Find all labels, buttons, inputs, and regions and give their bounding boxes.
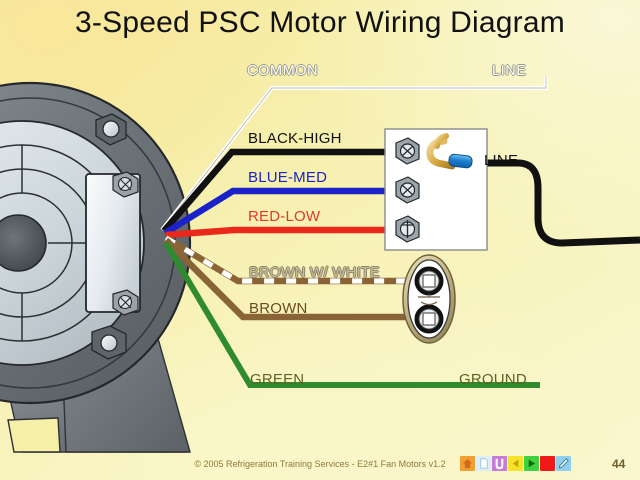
label-black-high: BLACK-HIGH [248,131,342,146]
document-icon[interactable] [476,456,491,471]
previous-icon[interactable] [508,456,523,471]
pen-icon[interactable] [556,456,571,471]
home-icon[interactable] [460,456,475,471]
capacitor-terminal-bottom[interactable] [415,305,443,333]
run-capacitor[interactable] [403,255,455,343]
wire-line-power [470,163,640,243]
page-title: 3-Speed PSC Motor Wiring Diagram [0,6,640,40]
speed-switch-box[interactable] [385,129,487,250]
motor-assembly [0,83,190,452]
motor-foot-notch [8,418,60,452]
wiring-diagram-artwork [0,0,640,480]
label-line-mid: LINE [484,153,518,168]
page-number: 44 [612,457,625,471]
label-ground: GROUND [459,372,527,387]
label-red-low: RED-LOW [248,209,320,224]
crimp-connector [448,154,472,169]
play-icon[interactable] [524,456,539,471]
wire-red-low [166,230,398,235]
stop-icon[interactable] [540,456,555,471]
label-blue-med: BLUE-MED [248,170,327,185]
motor-shaft-hub [0,215,46,271]
label-brown-w-white: BROWN W/ WHITE [249,266,380,281]
label-line-top: LINE [492,64,527,79]
slide-canvas: 3-Speed PSC Motor Wiring Diagram COMMON … [0,0,640,480]
label-brown: BROWN [249,301,308,316]
label-common: COMMON [247,64,318,79]
capacitor-terminal-top[interactable] [415,267,443,295]
navigation-toolbar[interactable] [460,456,571,471]
label-green: GREEN [250,372,304,387]
undo-icon[interactable] [492,456,507,471]
